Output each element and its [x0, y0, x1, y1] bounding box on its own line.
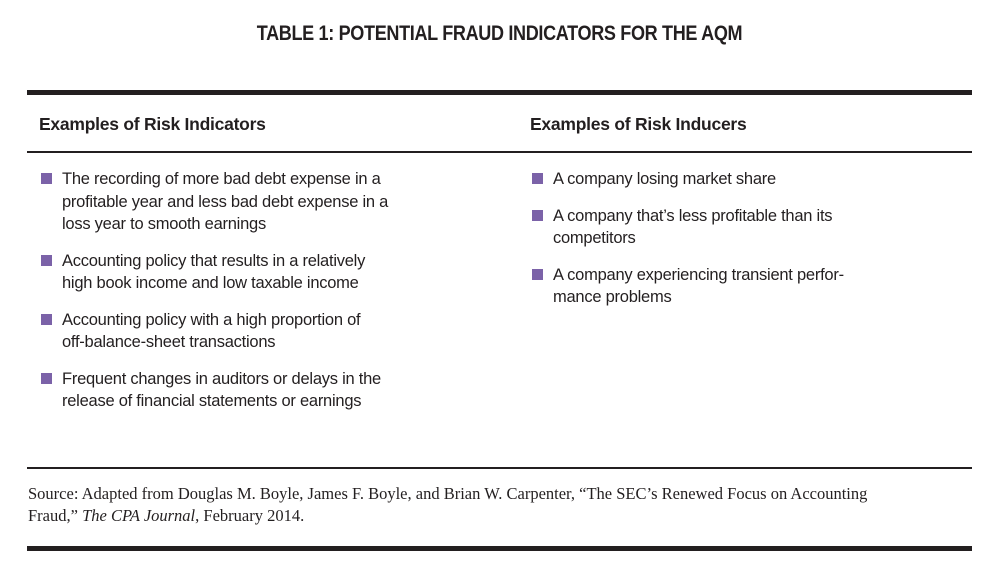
- list-item: Frequent changes in auditors or delays i…: [41, 368, 473, 413]
- source-note: Source: Adapted from Douglas M. Boyle, J…: [28, 483, 972, 527]
- square-bullet-icon: [532, 210, 543, 221]
- list-item-line: release of financial statements or earni…: [62, 390, 473, 413]
- header-divider-rule: [27, 151, 972, 153]
- list-item: A company that’s less profitable than it…: [532, 205, 952, 250]
- square-bullet-icon: [41, 373, 52, 384]
- list-item-line: mance problems: [553, 286, 952, 309]
- source-note-line-2: Fraud,” The CPA Journal, February 2014.: [28, 505, 972, 527]
- list-item: A company losing market share: [532, 168, 952, 191]
- list-item: A company experiencing transient perfor-…: [532, 264, 952, 309]
- square-bullet-icon: [41, 255, 52, 266]
- list-item-line: high book income and low taxable income: [62, 272, 473, 295]
- list-item-line: Accounting policy with a high proportion…: [62, 309, 473, 332]
- risk-indicators-list: The recording of more bad debt expense i…: [41, 168, 473, 413]
- list-item-line: Accounting policy that results in a rela…: [62, 250, 473, 273]
- page-title: TABLE 1: POTENTIAL FRAUD INDICATORS FOR …: [93, 22, 906, 46]
- list-item: Accounting policy that results in a rela…: [41, 250, 473, 295]
- list-item-line: competitors: [553, 227, 952, 250]
- square-bullet-icon: [41, 173, 52, 184]
- list-item-line: loss year to smooth earnings: [62, 213, 473, 236]
- source-note-suffix: , February 2014.: [195, 506, 304, 525]
- column-header-risk-inducers: Examples of Risk Inducers: [530, 114, 746, 135]
- list-item: The recording of more bad debt expense i…: [41, 168, 473, 236]
- table-top-rule: [27, 90, 972, 95]
- list-item: Accounting policy with a high proportion…: [41, 309, 473, 354]
- list-item-line: A company that’s less profitable than it…: [553, 205, 952, 228]
- square-bullet-icon: [41, 314, 52, 325]
- list-item-line: A company losing market share: [553, 168, 952, 191]
- square-bullet-icon: [532, 269, 543, 280]
- source-note-prefix: Fraud,”: [28, 506, 82, 525]
- list-item-line: Frequent changes in auditors or delays i…: [62, 368, 473, 391]
- list-item-line: profitable year and less bad debt expens…: [62, 191, 473, 214]
- source-note-journal-title: The CPA Journal: [82, 506, 195, 525]
- column-header-risk-indicators: Examples of Risk Indicators: [39, 114, 266, 135]
- risk-inducers-list: A company losing market share A company …: [532, 168, 952, 309]
- source-note-line-1: Source: Adapted from Douglas M. Boyle, J…: [28, 483, 972, 505]
- square-bullet-icon: [532, 173, 543, 184]
- list-item-line: A company experiencing transient perfor-: [553, 264, 952, 287]
- list-item-line: The recording of more bad debt expense i…: [62, 168, 473, 191]
- table-bottom-rule: [27, 546, 972, 551]
- list-item-line: off-balance-sheet transactions: [62, 331, 473, 354]
- footer-divider-rule: [27, 467, 972, 469]
- fraud-indicators-table-figure: TABLE 1: POTENTIAL FRAUD INDICATORS FOR …: [0, 0, 1000, 575]
